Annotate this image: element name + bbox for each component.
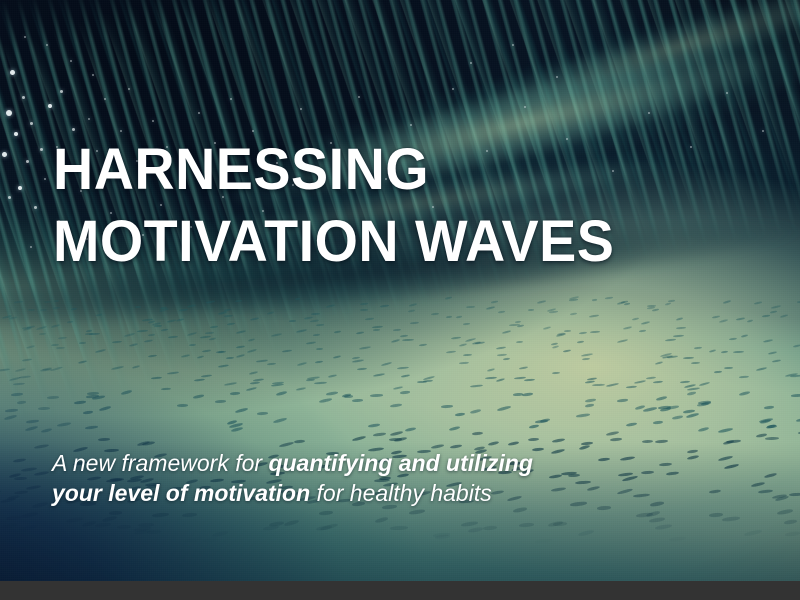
slide-title: HARNESSING MOTIVATION WAVES [53, 134, 753, 278]
title-line-2: MOTIVATION WAVES [53, 206, 725, 278]
slide-subtitle: A new framework for quantifying and util… [52, 448, 732, 508]
slide-deck: HARNESSING MOTIVATION WAVES A new framew… [0, 0, 800, 600]
subtitle-text-strong-b: your level of motivation [52, 480, 310, 506]
subtitle-text-strong-a: quantifying and utilizing [268, 450, 532, 476]
subtitle-text-normal-a: A new framework for [52, 450, 268, 476]
subtitle-text-normal-b: for healthy habits [310, 480, 492, 506]
app-bottom-bar [0, 581, 800, 600]
subtitle-line-1: A new framework for quantifying and util… [52, 448, 732, 478]
subtitle-line-2: your level of motivation for healthy hab… [52, 478, 732, 508]
title-line-1: HARNESSING [53, 134, 725, 206]
presentation-slide[interactable]: HARNESSING MOTIVATION WAVES A new framew… [0, 0, 800, 581]
